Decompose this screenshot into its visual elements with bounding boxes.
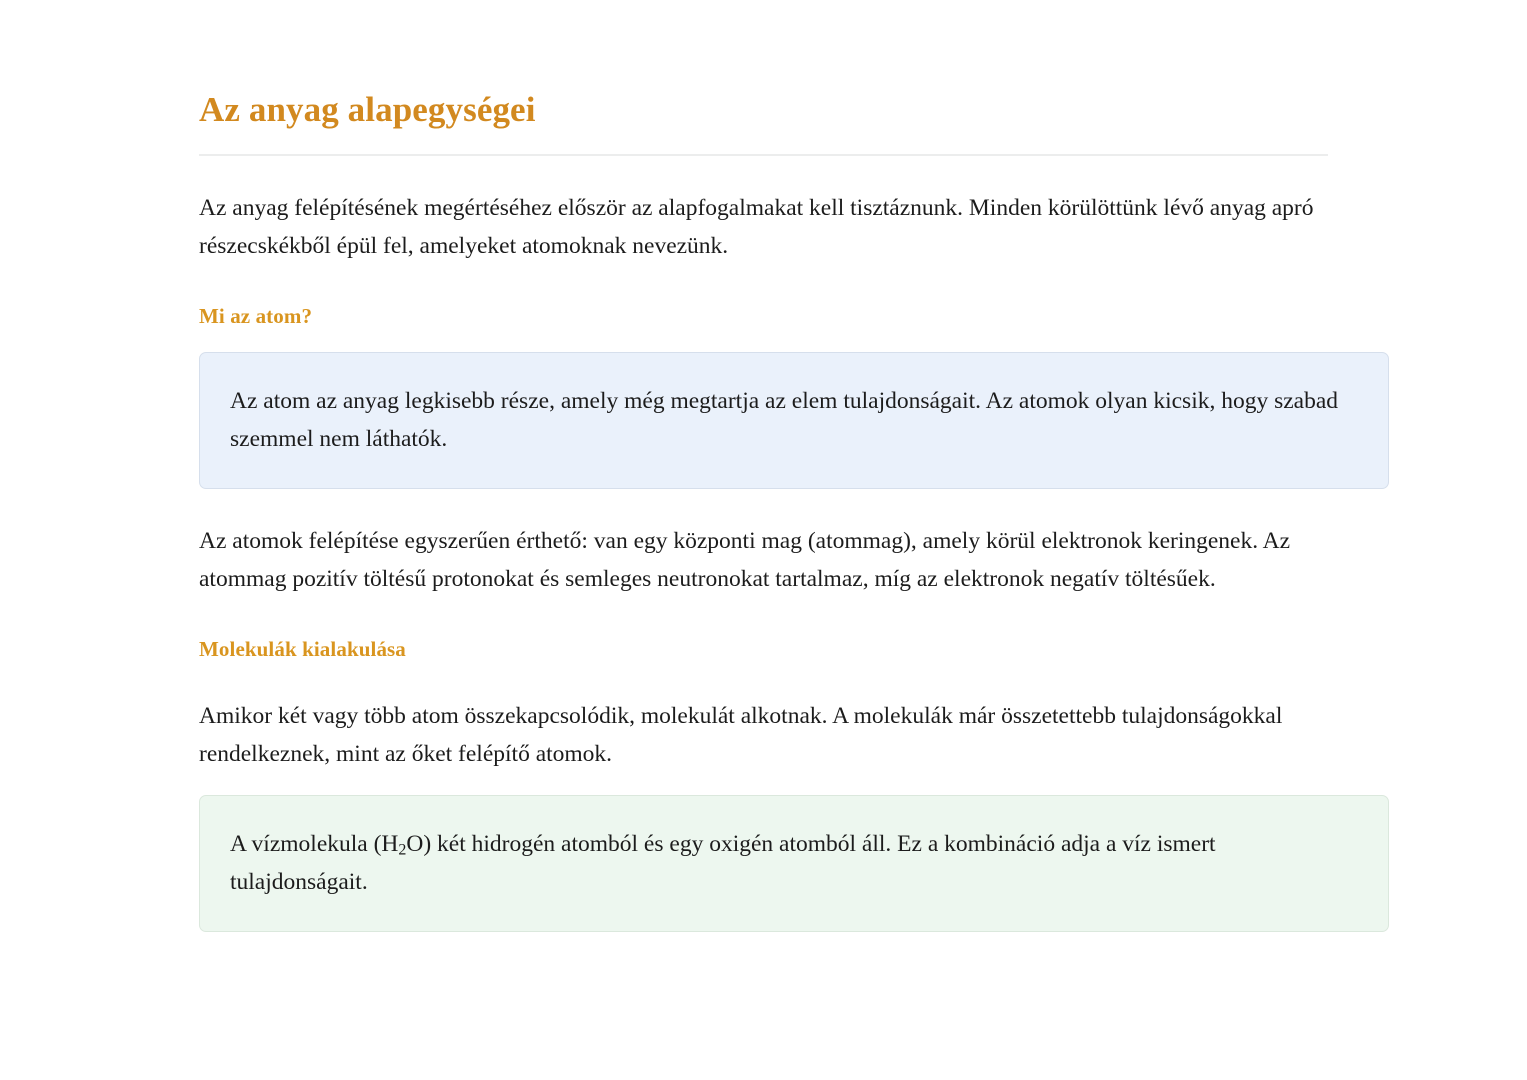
document-page: Az anyag alapegységei Az anyag felépítés…	[0, 0, 1527, 1080]
callout-example-water: A vízmolekula (H2O) két hidrogén atomból…	[199, 795, 1389, 932]
water-text-before-formula: A vízmolekula (H	[230, 831, 398, 857]
molecules-paragraph: Amikor két vagy több atom összekapcsolód…	[199, 697, 1327, 773]
intro-paragraph: Az anyag felépítésének megértéséhez elős…	[199, 189, 1327, 265]
section-heading-molekulak-kialakulasa: Molekulák kialakulása	[199, 636, 1388, 663]
section-heading-mi-az-atom: Mi az atom?	[199, 303, 1388, 330]
title-divider	[199, 154, 1328, 156]
callout-example-water-text: A vízmolekula (H2O) két hidrogén atomból…	[230, 825, 1358, 901]
callout-definition-atom: Az atom az anyag legkisebb része, amely …	[199, 352, 1389, 489]
atom-structure-paragraph: Az atomok felépítése egyszerűen érthető:…	[199, 522, 1327, 598]
callout-definition-atom-text: Az atom az anyag legkisebb része, amely …	[230, 382, 1358, 458]
page-title: Az anyag alapegységei	[199, 88, 1388, 132]
